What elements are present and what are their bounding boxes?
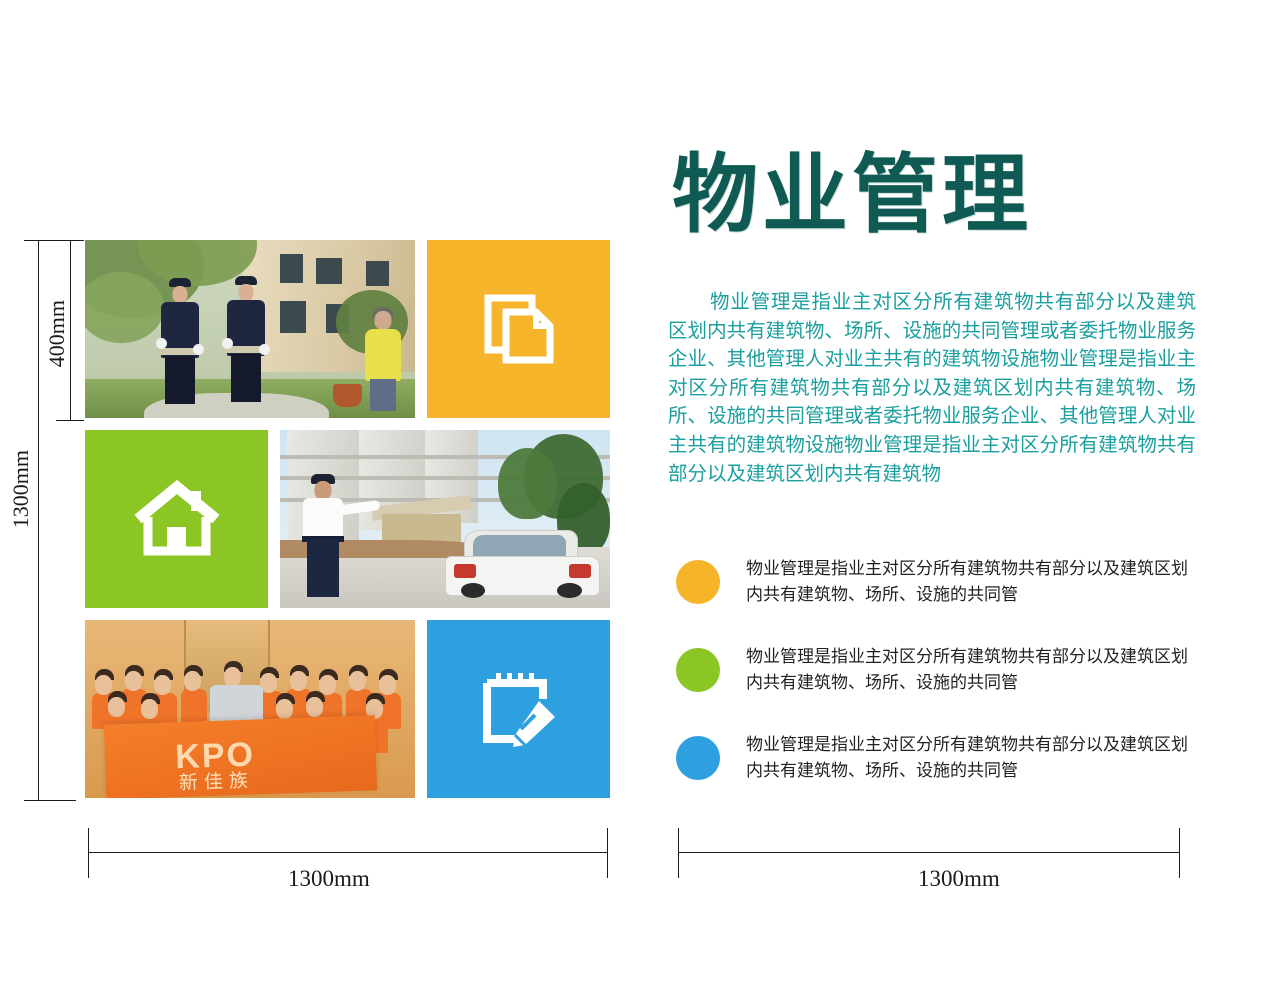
list-item: 物业管理是指业主对区分所有建筑物共有部分以及建筑区划内共有建筑物、场所、设施的共…: [668, 732, 1198, 820]
bullet-text: 物业管理是指业主对区分所有建筑物共有部分以及建筑区划内共有建筑物、场所、设施的共…: [746, 732, 1194, 784]
dim-tick-right-start: [678, 828, 679, 878]
dim-line-horizontal-left: [88, 852, 608, 853]
photo-security-guards-patrol: [85, 240, 415, 418]
page-title: 物业管理: [672, 152, 1032, 238]
dim-tick-left-start: [88, 828, 89, 878]
guard-figure-right: [224, 284, 268, 406]
tile-home[interactable]: [85, 430, 268, 608]
home-icon: [134, 479, 220, 559]
orange-banner: KPO 新佳族: [104, 715, 377, 798]
dim-label-1300mm-vertical: 1300mm: [8, 450, 34, 528]
banner-brand-sub: 新佳族: [178, 766, 254, 796]
dim-tick-bottom-full: [24, 800, 76, 801]
left-panel: 1300mm 400mm: [0, 0, 640, 1008]
dim-line-horizontal-right: [678, 852, 1180, 853]
photo-staff-group-banner: KPO 新佳族: [85, 620, 415, 798]
tile-notepad[interactable]: [427, 620, 610, 798]
dim-label-1300mm-right: 1300mm: [918, 866, 1000, 892]
tile-documents[interactable]: [427, 240, 610, 418]
poster-page: 1300mm 400mm: [0, 0, 1280, 1008]
bullet-dot-blue: [676, 736, 720, 780]
dim-tick-right-end: [1179, 828, 1180, 878]
bullet-dot-green: [676, 648, 720, 692]
photo-guard-directing-traffic: [280, 430, 610, 608]
dim-label-1300mm-left: 1300mm: [288, 866, 370, 892]
white-car: [445, 531, 600, 595]
resident-figure: [364, 311, 402, 411]
list-item: 物业管理是指业主对区分所有建筑物共有部分以及建筑区划内共有建筑物、场所、设施的共…: [668, 556, 1198, 644]
dim-tick-top-400: [56, 240, 84, 241]
dim-tick-left-end: [607, 828, 608, 878]
bullet-list: 物业管理是指业主对区分所有建筑物共有部分以及建筑区划内共有建筑物、场所、设施的共…: [668, 556, 1198, 820]
list-item: 物业管理是指业主对区分所有建筑物共有部分以及建筑区划内共有建筑物、场所、设施的共…: [668, 644, 1198, 732]
bullet-text: 物业管理是指业主对区分所有建筑物共有部分以及建筑区划内共有建筑物、场所、设施的共…: [746, 556, 1194, 608]
dim-line-vertical-400: [70, 240, 71, 420]
notepad-pencil-icon: [477, 667, 561, 751]
right-panel: 物业管理 物业管理是指业主对区分所有建筑物共有部分以及建筑区划内共有建筑物、场所…: [660, 0, 1280, 1008]
guard-figure-left: [158, 286, 202, 406]
dim-tick-bottom-400: [56, 420, 84, 421]
traffic-guard-figure: [300, 481, 346, 601]
documents-copy-icon: [480, 290, 558, 368]
description-paragraph: 物业管理是指业主对区分所有建筑物共有部分以及建筑区划内共有建筑物、场所、设施的共…: [668, 288, 1196, 488]
dim-line-vertical-full: [38, 240, 39, 800]
bullet-text: 物业管理是指业主对区分所有建筑物共有部分以及建筑区划内共有建筑物、场所、设施的共…: [746, 644, 1194, 696]
media-grid: KPO 新佳族: [85, 240, 610, 800]
bullet-dot-orange: [676, 560, 720, 604]
dim-label-400mm-vertical: 400mm: [44, 300, 70, 367]
